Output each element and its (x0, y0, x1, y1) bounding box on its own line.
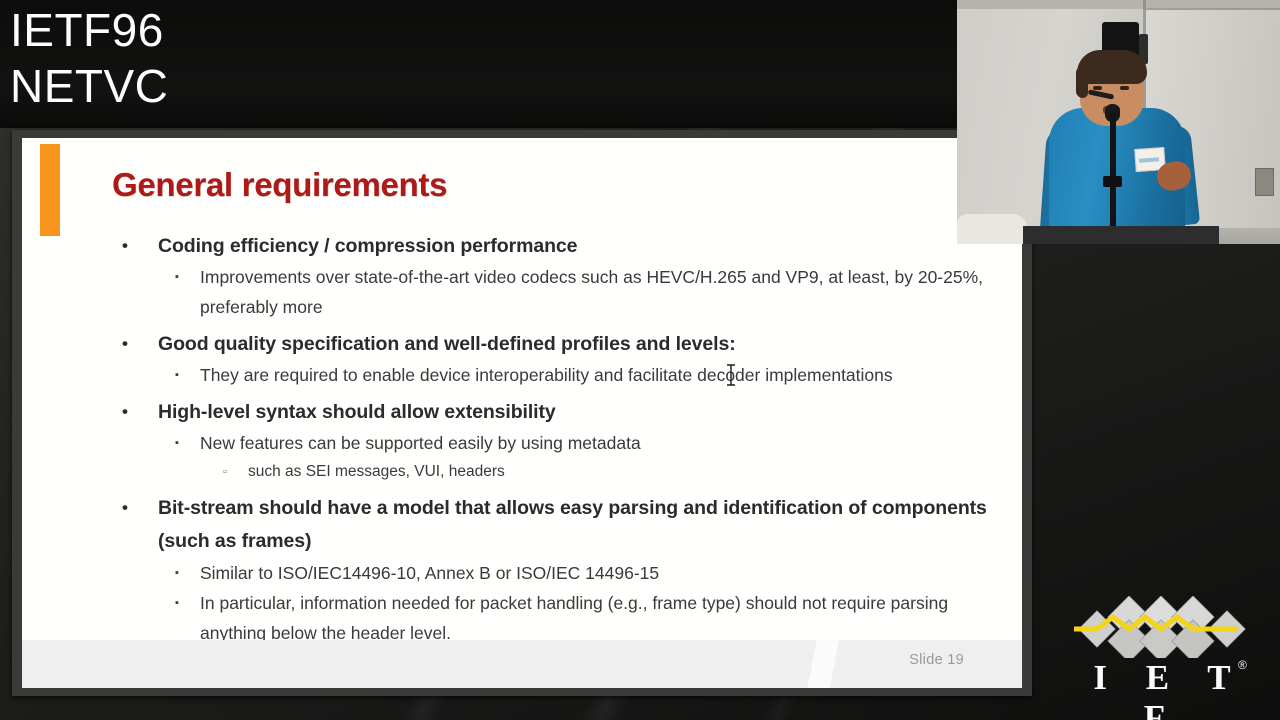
presenter-right-eye (1120, 86, 1129, 90)
bullet-level1: • Good quality specification and well-de… (22, 328, 1022, 360)
page-title: IETF96 NETVC (10, 2, 168, 114)
bullet-marker-dot-icon: • (122, 396, 128, 428)
bullet-marker-square-icon: ▪ (175, 558, 179, 588)
bullet-level2: ▪ New features can be supported easily b… (22, 428, 1022, 458)
bullet-text: Improvements over state-of-the-art video… (200, 267, 983, 317)
bullet-level1: • Coding efficiency / compression perfor… (22, 230, 1022, 262)
bullet-level1: • Bit-stream should have a model that al… (22, 492, 1022, 558)
bullet-level2: ▪ Improvements over state-of-the-art vid… (22, 262, 1022, 322)
slide-footer: Slide 19 (22, 640, 1022, 688)
bullet-marker-dot-icon: • (122, 230, 128, 262)
bullet-marker-square-icon: ▪ (175, 428, 179, 458)
bullet-text: such as SEI messages, VUI, headers (248, 463, 505, 480)
bullet-marker-dot-icon: • (122, 328, 128, 360)
video-podium (1023, 226, 1219, 244)
slide-body: • Coding efficiency / compression perfor… (22, 224, 1022, 648)
bullet-marker-dot-icon: • (122, 492, 128, 524)
bullet-text: They are required to enable device inter… (200, 365, 893, 385)
bullet-text: New features can be supported easily by … (200, 433, 641, 453)
bullet-text: Bit-stream should have a model that allo… (158, 497, 987, 552)
slide-content: General requirements • Coding efficiency… (22, 138, 1022, 688)
bullet-marker-square-icon: ▪ (175, 262, 179, 292)
ietf-diamond-mark-icon (1062, 596, 1262, 658)
slide-title: General requirements (112, 166, 447, 204)
slide-frame: General requirements • Coding efficiency… (12, 130, 1032, 696)
ietf-logo: I E T F ® (1062, 596, 1262, 706)
badge-line (1139, 157, 1159, 162)
bullet-level1: • High-level syntax should allow extensi… (22, 396, 1022, 428)
bullet-marker-hollow-square-icon: ▫ (223, 458, 227, 486)
bullet-level2: ▪ Similar to ISO/IEC14496-10, Annex B or… (22, 558, 1022, 588)
bullet-text: Similar to ISO/IEC14496-10, Annex B or I… (200, 563, 659, 583)
bullet-text: Coding efficiency / compression performa… (158, 235, 577, 257)
bullet-text: High-level syntax should allow extensibi… (158, 401, 556, 423)
video-presenter (957, 0, 1280, 244)
bullet-marker-square-icon: ▪ (175, 360, 179, 390)
ietf-logo-text: I E T F (1062, 658, 1262, 720)
text-ibeam-cursor (726, 364, 736, 386)
presenter-left-eye (1093, 86, 1102, 90)
bullet-level2: ▪ In particular, information needed for … (22, 588, 1022, 648)
bullet-level3: ▫ such as SEI messages, VUI, headers (22, 458, 1022, 486)
microphone-clip (1103, 176, 1122, 187)
bullet-text: In particular, information needed for pa… (200, 593, 948, 643)
presenter-video-feed[interactable] (957, 0, 1280, 244)
bullet-level2: ▪ They are required to enable device int… (22, 360, 1022, 390)
presentation-screen: IETF96 NETVC General requirements • Codi… (0, 0, 1280, 720)
bullet-marker-square-icon: ▪ (175, 588, 179, 618)
slide-number: Slide 19 (909, 652, 964, 668)
presenter-hair-side (1076, 66, 1088, 98)
footer-diagonal-decoration (804, 640, 843, 688)
bullet-text: Good quality specification and well-defi… (158, 333, 736, 355)
registered-mark: ® (1238, 658, 1247, 672)
orange-accent-bar (40, 144, 60, 236)
